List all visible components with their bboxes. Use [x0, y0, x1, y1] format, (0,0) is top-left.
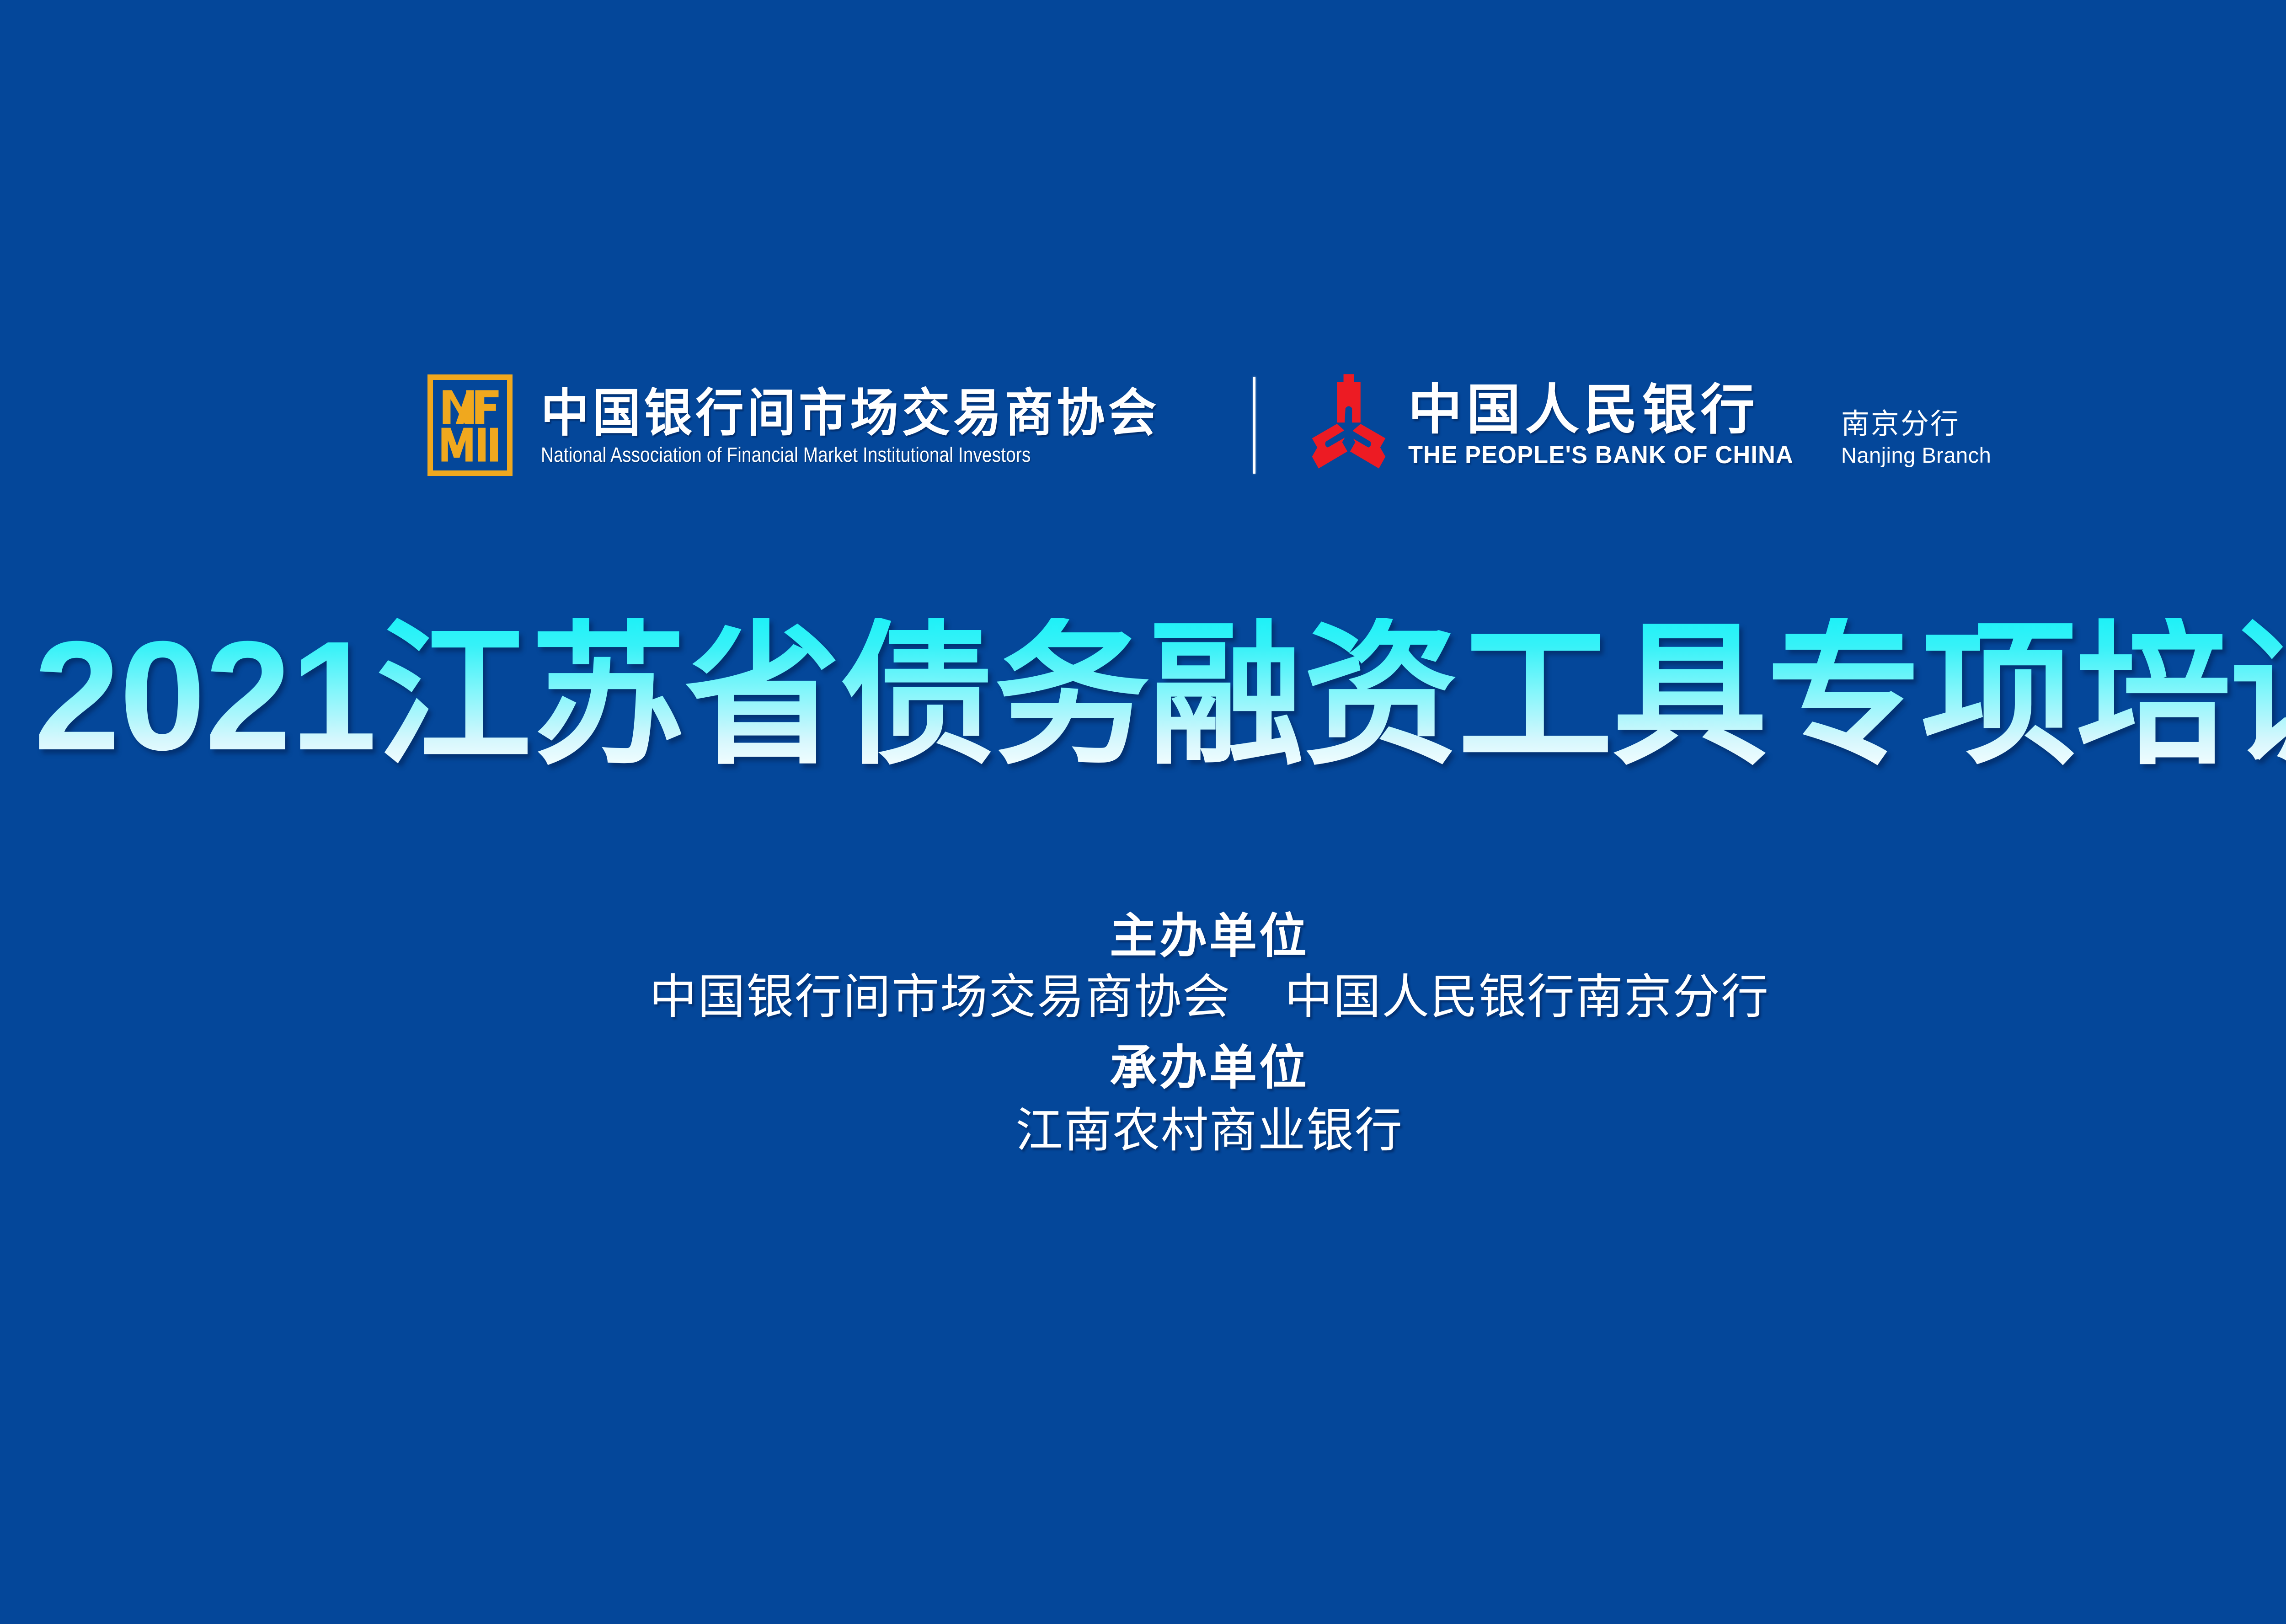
- nafmii-mark-icon: [427, 374, 513, 476]
- poster-slide: 中国银行间市场交易商协会 National Association of Fin…: [0, 0, 2286, 1624]
- pboc-logo: 中国人民银行 THE PEOPLE'S BANK OF CHINA 南京分行 N…: [1309, 372, 1991, 478]
- pboc-name-en: THE PEOPLE'S BANK OF CHINA: [1408, 442, 1794, 469]
- pboc-name-cn: 中国人民银行: [1408, 382, 1805, 439]
- nafmii-name-en: National Association of Financial Market…: [541, 443, 1107, 466]
- host-name-1: 中国银行间市场交易商协会: [649, 971, 1231, 1024]
- nafmii-logo: 中国银行间市场交易商协会 National Association of Fin…: [427, 374, 1199, 476]
- pboc-branch-en: Nanjing Branch: [1841, 443, 1991, 468]
- organiser-name-1: 江南农村商业银行: [0, 1099, 2286, 1163]
- logo-bar: 中国银行间市场交易商协会 National Association of Fin…: [0, 357, 2286, 494]
- pboc-branch-block: 南京分行 Nanjing Branch: [1841, 408, 1991, 478]
- pboc-branch-cn: 南京分行: [1841, 408, 1991, 440]
- organiser-block: 主办单位 中国银行间市场交易商协会中国人民银行南京分行 承办单位 江南农村商业银…: [0, 908, 2286, 1163]
- nafmii-name-cn: 中国银行间市场交易商协会: [541, 385, 1160, 442]
- organiser-label: 承办单位: [0, 1039, 2286, 1097]
- nafmii-wordmark: 中国银行间市场交易商协会 National Association of Fin…: [541, 385, 1199, 466]
- logo-divider: [1253, 377, 1255, 474]
- host-names: 中国银行间市场交易商协会中国人民银行南京分行: [0, 966, 2286, 1029]
- host-name-2: 中国人民银行南京分行: [1285, 971, 1769, 1024]
- host-label: 主办单位: [0, 908, 2286, 966]
- poster-title: 2021江苏省债务融资工具专项培训: [0, 618, 2286, 774]
- pboc-emblem-icon: [1309, 372, 1388, 478]
- pboc-wordmark: 中国人民银行 THE PEOPLE'S BANK OF CHINA: [1408, 382, 1805, 469]
